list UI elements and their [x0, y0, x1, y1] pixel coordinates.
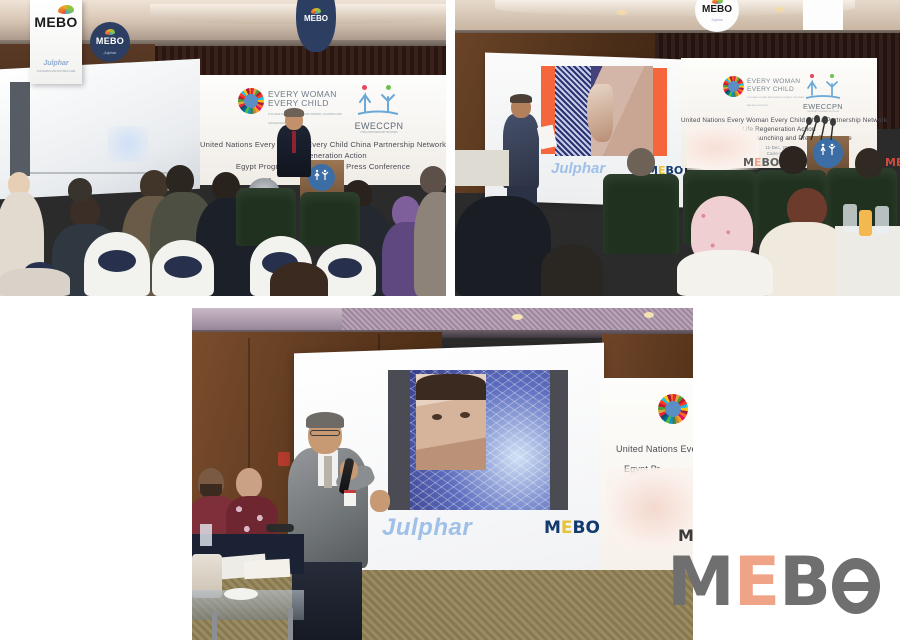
slide-mesh-border-left [388, 370, 410, 510]
table-leg [212, 612, 217, 640]
presenter-hair [510, 94, 532, 103]
mebo-rollup-banner: MEBO Julphar FOR BURNS AND WOUNDS CARE [30, 0, 82, 84]
photo-top-left: EVERY WOMAN EVERY CHILD FOR HEALTHY AND … [0, 0, 446, 296]
line1-tail: China Partnership Network [348, 140, 446, 149]
foreground-head [541, 244, 603, 296]
ewec-line-1: EVERY WOMAN [747, 78, 805, 86]
speaker-tie [324, 456, 332, 488]
audience-body [677, 250, 773, 296]
audience-head [68, 178, 92, 202]
ceiling-light [512, 314, 523, 320]
hangsign-julphar: Julphar [103, 50, 116, 55]
ceiling-light [775, 7, 784, 12]
slide-child-hair [416, 374, 486, 400]
podium-emblem-figures [313, 168, 330, 180]
hangsign-label: MEBO [702, 4, 732, 15]
table-glass [200, 524, 212, 546]
ewec-line-2: EVERY CHILD [747, 86, 805, 94]
sdg-wheel-icon [723, 76, 744, 97]
mebo-letter-b: B [779, 552, 830, 614]
ewec-line-2: EVERY CHILD [268, 99, 342, 108]
hangsign-leaf-icon [105, 29, 115, 35]
mebo-hanging-sign: MEBO Julphar [90, 22, 130, 62]
audience-head [779, 146, 807, 174]
table-microphone [266, 524, 294, 532]
eweccpn-icon [805, 74, 841, 102]
audience-head [166, 165, 194, 195]
eweccpn-wordmark: EWECCPN [799, 102, 847, 111]
mebo-rollup-label: MEBO [30, 14, 82, 30]
audience-head [855, 148, 883, 178]
audience-head [627, 148, 655, 176]
plate [224, 588, 258, 600]
table-papers [244, 559, 291, 579]
line1-italic: Every Woman Every Child [681, 444, 693, 454]
backdrop-line-1: United Nations Every Woman Every Child C… [681, 117, 877, 124]
banquet-table [835, 226, 900, 296]
chair-bow [98, 250, 136, 272]
mebo-leaf-icon [58, 5, 74, 14]
hangsign-right-label: MEBO [304, 14, 328, 23]
ewec-wordmark: EVERY WOMAN EVERY CHILD FOR HEALTHY AND … [268, 90, 342, 128]
exit-sign [278, 452, 290, 466]
backdrop-line-2: Life Regeneration Action [200, 151, 446, 160]
line1-plain: United Nations [616, 444, 681, 454]
speaker-hair [306, 412, 344, 428]
slide-mesh-border-right [550, 370, 568, 510]
photo-top-right: MEBO Julphar Julphar MEBO EVERY WOMAN EV… [455, 0, 900, 296]
slide-julphar-text: Julphar [382, 514, 472, 542]
ceiling-light [644, 312, 654, 318]
audience-head [420, 166, 446, 194]
eweccpn-icon [356, 85, 400, 121]
table-leg [288, 608, 293, 640]
chair-bow [328, 258, 362, 278]
speaker-badge [344, 490, 356, 506]
podium-microphones [795, 114, 847, 140]
drinking-glass [843, 204, 857, 232]
slide-child-eye-right [460, 412, 470, 418]
hangsign-label: MEBO [96, 36, 124, 46]
ewec-wordmark: EVERY WOMAN EVERY CHILD FOR HEALTHY AND … [747, 78, 805, 110]
ceiling-cove [495, 0, 855, 16]
speaker-glasses [310, 430, 340, 436]
eweccpn-tagline: CHINA PARTNERSHIP NETWORK [350, 131, 408, 134]
podium-emblem-figures [819, 143, 837, 156]
mebo-letter-o [830, 552, 882, 614]
eweccpn-wordmark: EWECCPN [350, 121, 408, 131]
backdrop-line-1-partial: United Nations Every Woman Every Child [616, 444, 693, 454]
photo-bottom: Julphar MEBO United Nations Every Woman … [192, 308, 693, 640]
side-table [455, 150, 509, 186]
backdrop-line-1: United Nations Every Woman Every Child C… [200, 140, 446, 149]
slide-mebo-logo: MEBO [544, 518, 600, 538]
banquet-chair [300, 192, 360, 246]
backdrop-mebo-logo: MEBO [743, 156, 779, 169]
speaker-hair [284, 108, 304, 117]
screen-blue-shape [108, 126, 148, 162]
banquet-chair [603, 174, 679, 254]
hanging-banner [803, 0, 843, 30]
foreground-body [0, 268, 70, 296]
slide-photo-dressing [587, 84, 613, 142]
ceiling-light [617, 10, 627, 15]
water-glass [875, 206, 889, 234]
speaker-tie [292, 131, 296, 153]
slide-photo-pattern [555, 66, 591, 156]
mebo-watermark-logo: M E B [667, 552, 882, 614]
slide-julphar-text: Julphar [551, 160, 605, 177]
eweccpn-tagline: CHINA PARTNERSHIP NETWORK [799, 111, 847, 113]
sdg-wheel-icon [238, 88, 264, 114]
speaker-hand-right [370, 490, 390, 512]
foreground-person [455, 196, 551, 296]
rollup-fineprint: FOR BURNS AND WOUNDS CARE [30, 70, 82, 73]
line1-italic: Every Woman Every Child [727, 117, 805, 124]
audience-head [236, 468, 262, 498]
slide-child-eye-left [432, 414, 442, 420]
line1-plain: United Nations [681, 117, 727, 124]
hangsign-julphar: Julphar [711, 18, 723, 22]
ewec-tagline: FOR HEALTHY AND EMPOWERED WOMEN, CHILDRE… [747, 95, 805, 110]
line1-plain: United Nations [200, 140, 255, 149]
mebo-letter-m: M [667, 552, 734, 614]
julphar-rollup-label: Julphar [30, 60, 82, 67]
ewec-tagline: FOR HEALTHY AND EMPOWERED WOMEN, CHILDRE… [268, 110, 342, 128]
slide-photo-band-right [651, 68, 667, 156]
collage-canvas: EVERY WOMAN EVERY CHILD FOR HEALTHY AND … [0, 0, 900, 640]
sdg-wheel-icon [658, 394, 688, 424]
foreground-head [270, 262, 328, 296]
audience-body [414, 192, 446, 296]
mebo-letter-e: E [734, 552, 779, 614]
chair-bow [164, 256, 202, 278]
juice-glass [859, 210, 872, 236]
screen-frame-dark [10, 82, 30, 176]
